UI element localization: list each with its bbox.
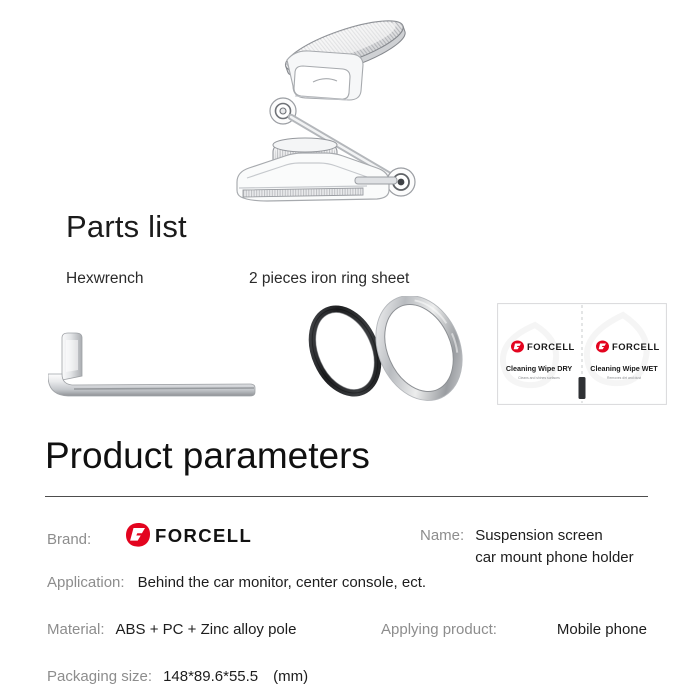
- forcell-logo: FORCELL: [124, 522, 284, 548]
- spec-label-application: Application:: [47, 572, 125, 594]
- spec-row-application: Application: Behind the car monitor, cen…: [47, 572, 426, 594]
- svg-text:Cleaning Wipe WET: Cleaning Wipe WET: [590, 364, 658, 373]
- spec-value-packaging-size: 148*89.6*55.5 (mm): [163, 666, 308, 688]
- spec-label-brand: Brand:: [47, 529, 91, 551]
- part-label-iron-rings: 2 pieces iron ring sheet: [249, 270, 409, 288]
- spec-label-material: Material:: [47, 619, 105, 641]
- product-parameters-title: Product parameters: [45, 435, 370, 477]
- cleaning-wipes-icon: FORCELL Cleaning Wipe DRY Cleans and shi…: [497, 303, 667, 405]
- spec-label-packaging-size: Packaging size:: [47, 666, 152, 688]
- hex-wrench-icon: [48, 328, 260, 400]
- spec-row-brand: Brand:: [47, 529, 91, 551]
- spec-row-applying-product: Applying product: Mobile phone: [381, 619, 647, 641]
- parts-list-title: Parts list: [66, 209, 187, 245]
- car-mount-phone-holder-illustration: [225, 0, 460, 216]
- spec-label-applying-product: Applying product:: [381, 619, 497, 641]
- part-label-hexwrench: Hexwrench: [66, 270, 144, 288]
- section-divider: [45, 496, 648, 497]
- svg-text:Cleans and shines surfaces: Cleans and shines surfaces: [518, 376, 560, 380]
- svg-text:FORCELL: FORCELL: [612, 341, 660, 352]
- iron-ring-icon: [287, 296, 477, 406]
- svg-text:Cleaning Wipe DRY: Cleaning Wipe DRY: [506, 364, 573, 373]
- spec-row-name: Name: Suspension screen car mount phone …: [420, 525, 634, 569]
- product-detail-page: Parts list Hexwrench 2 pieces iron ring …: [0, 0, 700, 700]
- spec-label-name: Name:: [420, 525, 464, 547]
- spec-row-material: Material: ABS + PC + Zinc alloy pole: [47, 619, 296, 641]
- svg-text:Removes dirt and dust: Removes dirt and dust: [607, 376, 641, 380]
- svg-text:FORCELL: FORCELL: [155, 525, 252, 546]
- svg-text:FORCELL: FORCELL: [527, 341, 575, 352]
- spec-value-application: Behind the car monitor, center console, …: [138, 572, 427, 594]
- spec-value-name: Suspension screen car mount phone holder: [475, 525, 633, 569]
- specifications-table: Brand: FORCELL Name: Suspension screen c…: [0, 515, 700, 700]
- spec-value-material: ABS + PC + Zinc alloy pole: [116, 619, 297, 641]
- spec-row-packaging-size: Packaging size: 148*89.6*55.5 (mm): [47, 666, 308, 688]
- spec-value-applying-product: Mobile phone: [557, 619, 647, 641]
